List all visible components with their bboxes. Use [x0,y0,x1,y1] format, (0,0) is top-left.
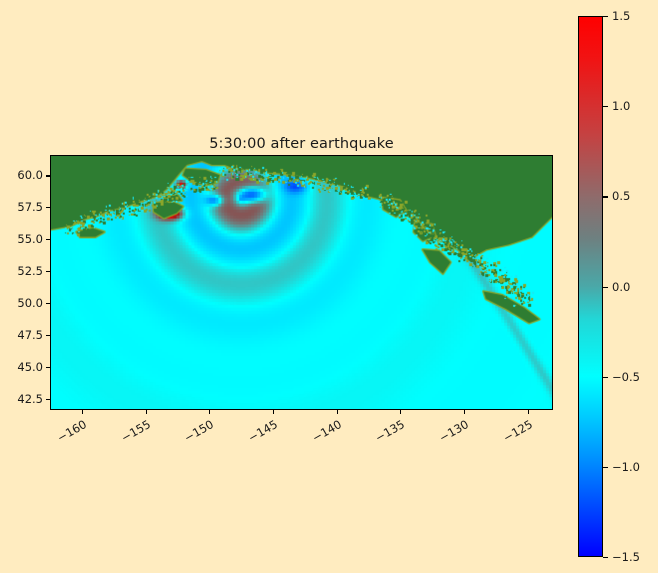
colorbar-tick-label: 0.0 [612,280,630,294]
x-tick-label: −155 [107,417,152,451]
y-tick-label: 57.5 [17,200,43,214]
x-tick-label: −145 [235,417,280,451]
y-tick-mark [46,303,50,304]
y-tick-label: 45.0 [17,360,43,374]
map-plot-area[interactable] [50,155,553,410]
x-tick-mark [209,410,210,414]
colorbar-tick-label: 0.5 [612,189,630,203]
x-tick-mark [464,410,465,414]
colorbar-tick-mark [603,287,608,288]
colorbar-tick-mark [603,377,608,378]
y-tick-label: 60.0 [17,168,43,182]
y-tick-mark [46,175,50,176]
x-tick-mark [337,410,338,414]
x-tick-label: −150 [171,417,216,451]
x-tick-label: −160 [44,417,89,451]
y-tick-label: 55.0 [17,232,43,246]
colorbar-tick-mark [603,16,608,17]
y-tick-mark [46,239,50,240]
y-tick-mark [46,399,50,400]
y-tick-mark [46,367,50,368]
x-tick-mark [273,410,274,414]
x-tick-label: −125 [489,417,534,451]
colorbar-tick-label: −1.0 [612,460,640,474]
colorbar[interactable] [578,16,603,557]
colorbar-tick-label: 1.0 [612,99,630,113]
x-tick-mark [400,410,401,414]
tsunami-figure: 5:30:00 after earthquake 60.057.555.052.… [0,0,658,573]
y-tick-label: 50.0 [17,296,43,310]
colorbar-tick-label: −0.5 [612,370,640,384]
y-tick-mark [46,207,50,208]
y-tick-mark [46,271,50,272]
colorbar-tick-label: 1.5 [612,9,630,23]
page-title: 5:30:00 after earthquake [50,136,553,152]
colorbar-tick-mark [603,196,608,197]
colorbar-tick-mark [603,106,608,107]
y-tick-label: 52.5 [17,264,43,278]
tsunami-heatmap [51,156,552,409]
x-tick-label: −130 [426,417,471,451]
y-tick-mark [46,335,50,336]
colorbar-tick-mark [603,557,608,558]
y-tick-label: 42.5 [17,392,43,406]
y-tick-label: 47.5 [17,328,43,342]
colorbar-tick-mark [603,467,608,468]
x-tick-mark [528,410,529,414]
x-tick-label: −140 [298,417,343,451]
x-tick-label: −135 [362,417,407,451]
x-tick-mark [146,410,147,414]
colorbar-tick-label: −1.5 [612,550,640,564]
x-tick-mark [82,410,83,414]
